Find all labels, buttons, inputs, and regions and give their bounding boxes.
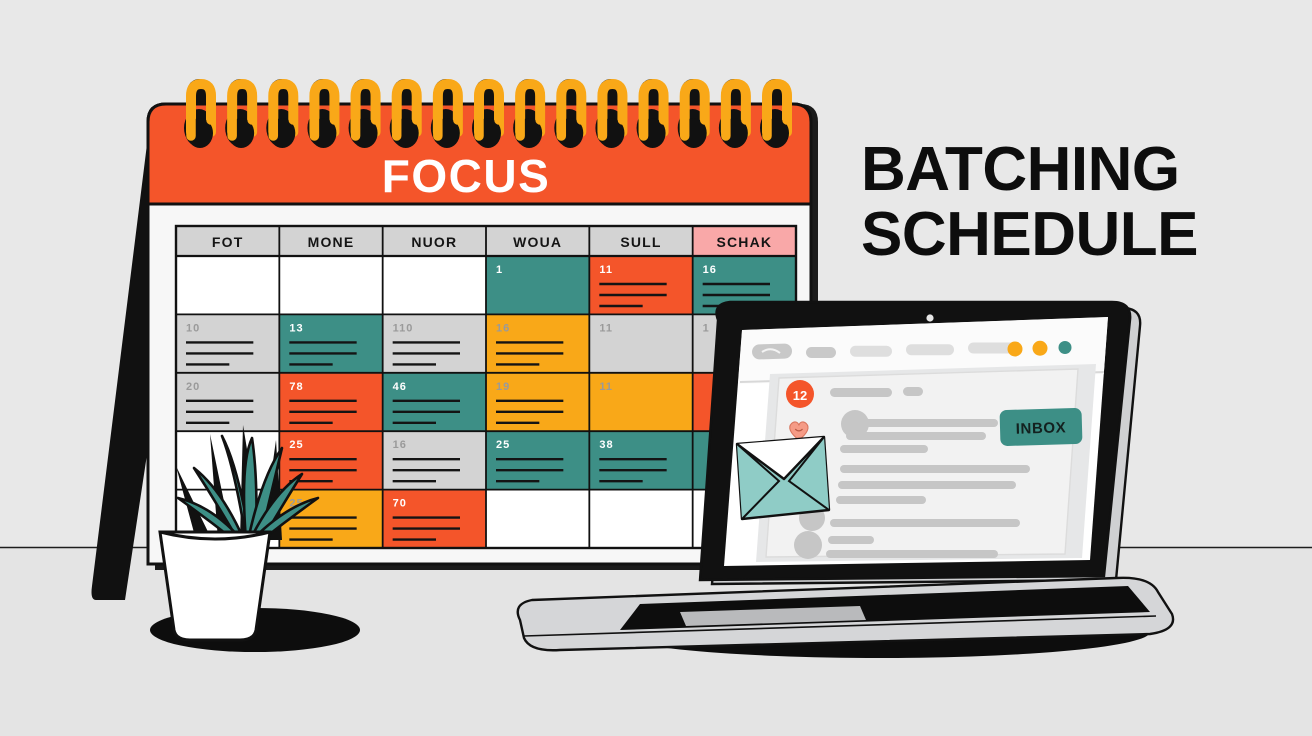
calendar-day-number: 46 (393, 381, 407, 393)
calendar-day-number: 16 (703, 264, 717, 276)
calendar-day-number: 10 (186, 322, 200, 334)
calendar-focus-label: FOCUS (382, 150, 551, 202)
toolbar-bar[interactable] (906, 344, 954, 355)
calendar-day-number: 25 (496, 439, 510, 451)
email-text-bar (830, 519, 1020, 527)
email-text-bar (846, 432, 986, 440)
calendar-day-header-label: SULL (620, 234, 661, 250)
calendar-day-cell[interactable] (589, 490, 692, 548)
laptop-camera (926, 314, 933, 321)
email-text-bar (840, 465, 1030, 473)
envelope-icon (737, 437, 829, 519)
email-text-bar (840, 445, 928, 453)
calendar-day-header-label: NUOR (411, 234, 457, 250)
search-pill[interactable] (752, 343, 792, 359)
email-text-bar (846, 419, 998, 427)
calendar-day-number: 20 (186, 381, 200, 393)
calendar-day-cell[interactable] (279, 256, 382, 314)
email-header-bar (903, 387, 923, 396)
dot-amber-2[interactable] (1033, 341, 1048, 356)
page-title: BATCHING SCHEDULE (861, 135, 1198, 269)
calendar-day-cell[interactable] (486, 490, 589, 548)
spiral-binding (184, 79, 790, 148)
calendar-day-number: 78 (289, 381, 303, 393)
calendar-day-number: 13 (289, 322, 303, 334)
calendar-day-cell[interactable] (176, 256, 279, 314)
notification-badge-label: 12 (793, 388, 807, 403)
plant-pot (160, 532, 270, 640)
email-text-bar (828, 536, 874, 544)
toolbar-bar[interactable] (806, 347, 836, 358)
email-header-bar (830, 388, 892, 397)
calendar-day-header-label: FOT (212, 234, 244, 250)
illustration-scene: FOCUS FOTMONENUORWOUASULLSCHAK1111610131… (0, 0, 1312, 736)
dot-amber-1[interactable] (1008, 342, 1023, 357)
email-text-bar (838, 481, 1016, 489)
calendar-day-number: 11 (599, 264, 613, 276)
calendar-day-number: 16 (393, 439, 407, 451)
calendar-day-number: 11 (599, 381, 613, 393)
calendar-day-header-label: WOUA (513, 234, 562, 250)
calendar-day-number: 19 (496, 381, 510, 393)
calendar-day-cell[interactable] (383, 256, 486, 314)
calendar-day-number: 1 (703, 322, 710, 334)
calendar-day-number: 1 (496, 264, 503, 276)
title-line-2: SCHEDULE (861, 200, 1198, 269)
calendar-day-number: 11 (599, 322, 613, 334)
toolbar-bar[interactable] (850, 346, 892, 357)
dot-teal[interactable] (1059, 341, 1072, 354)
title-line-1: BATCHING (861, 135, 1180, 204)
inbox-button-label: INBOX (1016, 419, 1067, 437)
calendar-day-number: 16 (496, 322, 510, 334)
calendar-day-number: 25 (289, 439, 303, 451)
email-text-bar (836, 496, 926, 504)
calendar-day-number: 70 (393, 498, 407, 510)
calendar-day-header-label: MONE (308, 234, 355, 250)
calendar-day-number: 110 (393, 322, 414, 334)
email-text-bar (826, 550, 998, 558)
avatar (794, 531, 822, 559)
inbox-button[interactable]: INBOX (1000, 408, 1083, 446)
calendar-day-number: 38 (599, 439, 613, 451)
calendar-day-header-label: SCHAK (716, 234, 772, 250)
